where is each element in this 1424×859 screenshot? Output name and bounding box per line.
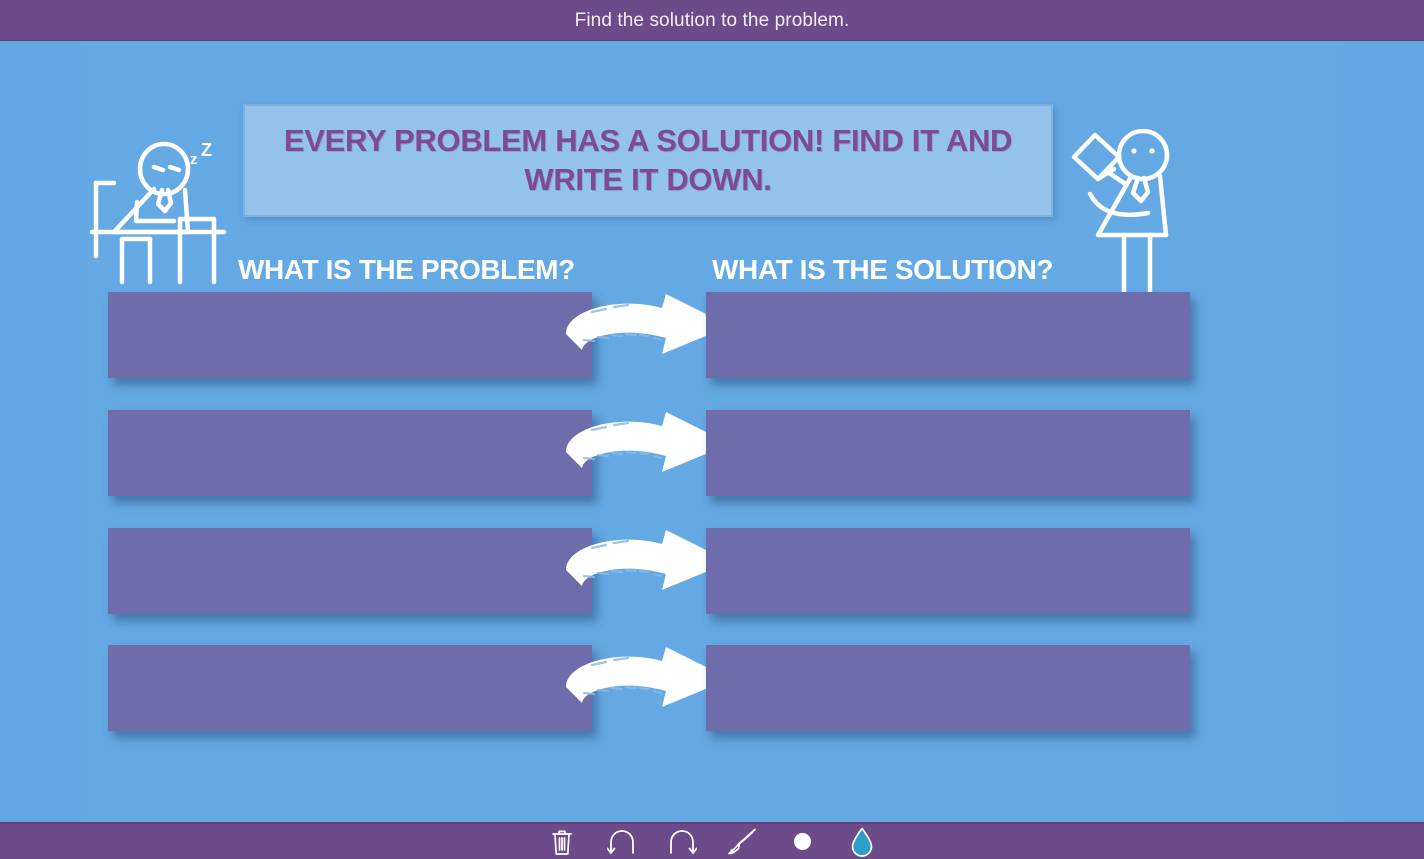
person-drinking-cup-icon [1062, 129, 1202, 299]
page-title: Find the solution to the problem. [575, 11, 850, 30]
brush-icon[interactable] [725, 826, 759, 858]
problem-box-1[interactable] [108, 292, 592, 378]
header-bar: Find the solution to the problem. [0, 0, 1424, 41]
column-heading-problem: WHAT IS THE PROBLEM? [238, 256, 575, 284]
problem-box-3[interactable] [108, 528, 592, 614]
solution-box-3[interactable] [706, 528, 1190, 614]
drawing-canvas[interactable]: z Z [0, 41, 1424, 822]
trash-icon[interactable] [545, 826, 579, 858]
worksheet-title-banner: EVERY PROBLEM HAS A SOLUTION! FIND IT AN… [243, 104, 1053, 217]
svg-text:z: z [190, 151, 198, 168]
redo-icon[interactable] [665, 826, 699, 858]
bottom-toolbar [0, 822, 1424, 859]
problem-box-4[interactable] [108, 645, 592, 731]
solution-box-1[interactable] [706, 292, 1190, 378]
sleeping-person-at-desk-icon: z Z [84, 136, 252, 286]
solution-box-2[interactable] [706, 410, 1190, 496]
solution-box-4[interactable] [706, 645, 1190, 731]
app-root: Find the solution to the problem. z Z [0, 0, 1424, 859]
column-heading-solution: WHAT IS THE SOLUTION? [712, 256, 1053, 284]
brush-size-dot-icon[interactable] [785, 826, 819, 858]
svg-text:Z: Z [201, 140, 212, 160]
worksheet-title-text: EVERY PROBLEM HAS A SOLUTION! FIND IT AN… [245, 122, 1051, 199]
undo-icon[interactable] [605, 826, 639, 858]
water-drop-color-icon[interactable] [845, 826, 879, 858]
problem-box-2[interactable] [108, 410, 592, 496]
brush-size-dot [794, 833, 811, 850]
